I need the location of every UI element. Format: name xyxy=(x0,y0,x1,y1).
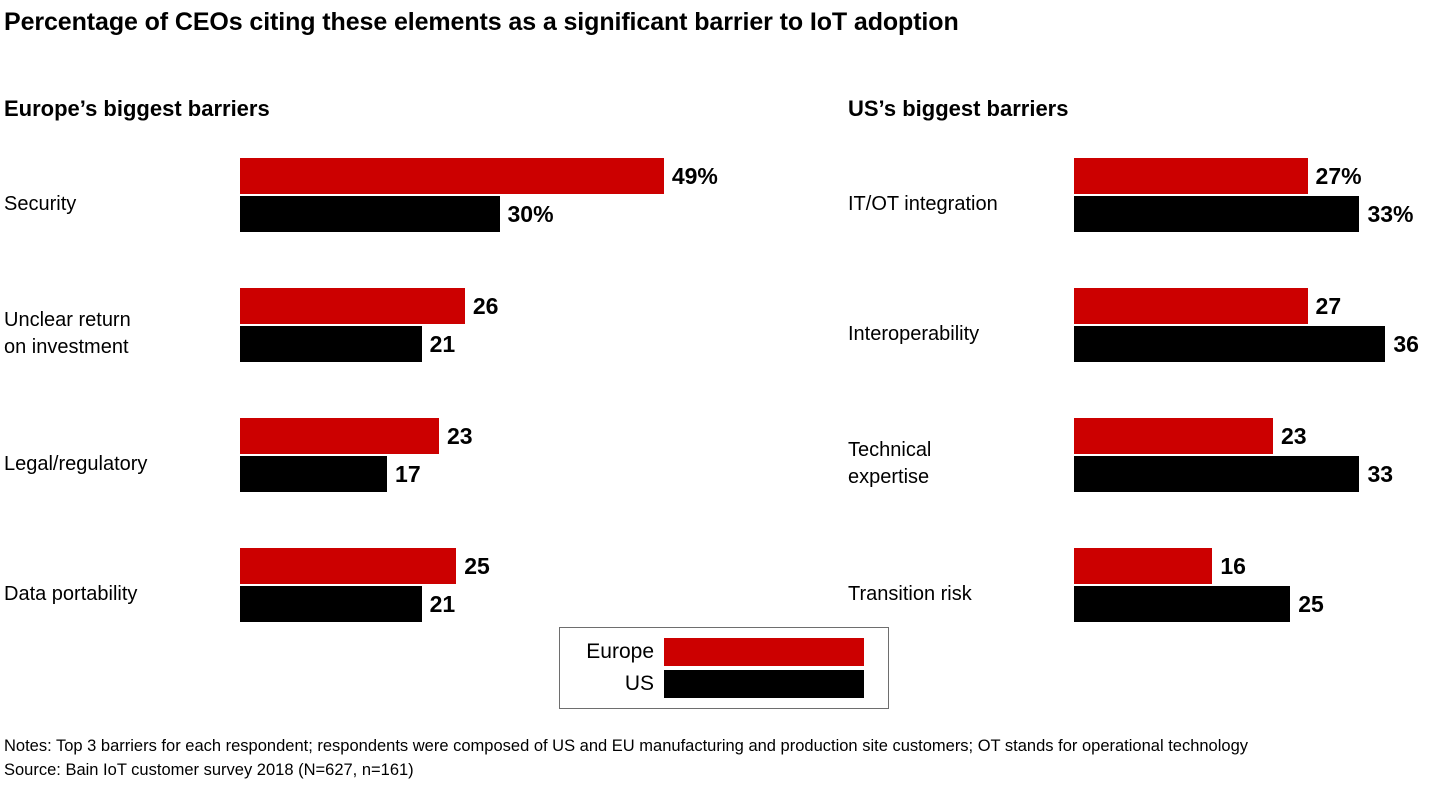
bar-europe xyxy=(1074,418,1273,454)
footnotes: Notes: Top 3 barriers for each responden… xyxy=(4,734,1436,782)
row-label-line1: IT/OT integration xyxy=(848,191,1074,218)
bar-value-us: 17 xyxy=(395,461,421,488)
legend-label-europe: Europe xyxy=(560,640,664,664)
page-title: Percentage of CEOs citing these elements… xyxy=(4,8,959,37)
bar-europe xyxy=(240,548,456,584)
panel-heading-us: US’s biggest barriers xyxy=(848,96,1068,122)
bar-rows-europe: Security 49% 30% Unclear return on inves… xyxy=(4,154,834,674)
bar-value-europe: 23 xyxy=(1281,423,1307,450)
row-label: IT/OT integration xyxy=(848,154,1074,254)
bar-value-us: 33 xyxy=(1367,461,1393,488)
footnote-notes: Notes: Top 3 barriers for each responden… xyxy=(4,734,1436,758)
bar-group-us: 25 xyxy=(1074,586,1324,622)
bar-group-us: 33 xyxy=(1074,456,1393,492)
bar-europe xyxy=(1074,158,1308,194)
bar-group-europe: 27 xyxy=(1074,288,1341,324)
bar-us xyxy=(240,326,422,362)
bar-europe xyxy=(240,288,465,324)
row-label-line1: Data portability xyxy=(4,581,240,608)
legend-swatch-us xyxy=(664,670,864,698)
row-label-line1: Security xyxy=(4,191,240,218)
bar-group-us: 21 xyxy=(240,586,455,622)
bar-value-europe: 26 xyxy=(473,293,499,320)
bar-row: Interoperability 27 36 xyxy=(848,284,1440,414)
bar-group-europe: 49% xyxy=(240,158,718,194)
row-label: Security xyxy=(4,154,240,254)
row-label: Unclear return on investment xyxy=(4,284,240,384)
bar-europe xyxy=(1074,548,1212,584)
row-label-line1: Legal/regulatory xyxy=(4,451,240,478)
bar-row: IT/OT integration 27% 33% xyxy=(848,154,1440,284)
bar-value-europe: 25 xyxy=(464,553,490,580)
bar-group-europe: 23 xyxy=(1074,418,1307,454)
bar-group-us: 21 xyxy=(240,326,455,362)
bar-value-europe: 23 xyxy=(447,423,473,450)
bar-us xyxy=(240,586,422,622)
row-label: Legal/regulatory xyxy=(4,414,240,514)
row-label: Interoperability xyxy=(848,284,1074,384)
bar-group-us: 17 xyxy=(240,456,421,492)
bar-value-us: 25 xyxy=(1298,591,1324,618)
bar-us xyxy=(240,456,387,492)
bar-group-us: 33% xyxy=(1074,196,1413,232)
bar-rows-us: IT/OT integration 27% 33% Interoperabili… xyxy=(848,154,1440,674)
bar-us xyxy=(240,196,500,232)
row-label-line2: on investment xyxy=(4,334,240,361)
bar-us xyxy=(1074,586,1290,622)
bar-europe xyxy=(1074,288,1308,324)
bar-group-europe: 27% xyxy=(1074,158,1362,194)
bar-row: Unclear return on investment 26 21 xyxy=(4,284,834,414)
bar-group-europe: 16 xyxy=(1074,548,1246,584)
bar-row: Technical expertise 23 33 xyxy=(848,414,1440,544)
bar-value-us: 21 xyxy=(430,591,456,618)
bar-value-us: 33% xyxy=(1367,201,1413,228)
bar-group-us: 30% xyxy=(240,196,554,232)
row-label-line2: expertise xyxy=(848,464,1074,491)
bar-group-europe: 25 xyxy=(240,548,490,584)
bar-europe xyxy=(240,158,664,194)
bar-europe xyxy=(240,418,439,454)
bar-us xyxy=(1074,196,1359,232)
row-label-line1: Technical xyxy=(848,437,1074,464)
bar-group-europe: 23 xyxy=(240,418,473,454)
bar-value-europe: 16 xyxy=(1220,553,1246,580)
bar-value-us: 36 xyxy=(1393,331,1419,358)
bar-value-europe: 27% xyxy=(1316,163,1362,190)
legend-item-us: US xyxy=(560,669,888,699)
bar-us xyxy=(1074,326,1385,362)
bar-value-us: 30% xyxy=(508,201,554,228)
panel-heading-europe: Europe’s biggest barriers xyxy=(4,96,270,122)
row-label: Technical expertise xyxy=(848,414,1074,514)
legend: Europe US xyxy=(559,627,889,709)
legend-label-us: US xyxy=(560,672,664,696)
footnote-source: Source: Bain IoT customer survey 2018 (N… xyxy=(4,758,1436,782)
row-label-line1: Transition risk xyxy=(848,581,1074,608)
bar-value-europe: 27 xyxy=(1316,293,1342,320)
bar-row: Security 49% 30% xyxy=(4,154,834,284)
bar-group-europe: 26 xyxy=(240,288,498,324)
bar-value-europe: 49% xyxy=(672,163,718,190)
legend-swatch-europe xyxy=(664,638,864,666)
bar-row: Transition risk 16 25 xyxy=(848,544,1440,674)
bar-row: Legal/regulatory 23 17 xyxy=(4,414,834,544)
row-label-line1: Interoperability xyxy=(848,321,1074,348)
row-label-line1: Unclear return xyxy=(4,307,240,334)
legend-item-europe: Europe xyxy=(560,637,888,667)
bar-us xyxy=(1074,456,1359,492)
bar-group-us: 36 xyxy=(1074,326,1419,362)
bar-value-us: 21 xyxy=(430,331,456,358)
row-label: Data portability xyxy=(4,544,240,644)
